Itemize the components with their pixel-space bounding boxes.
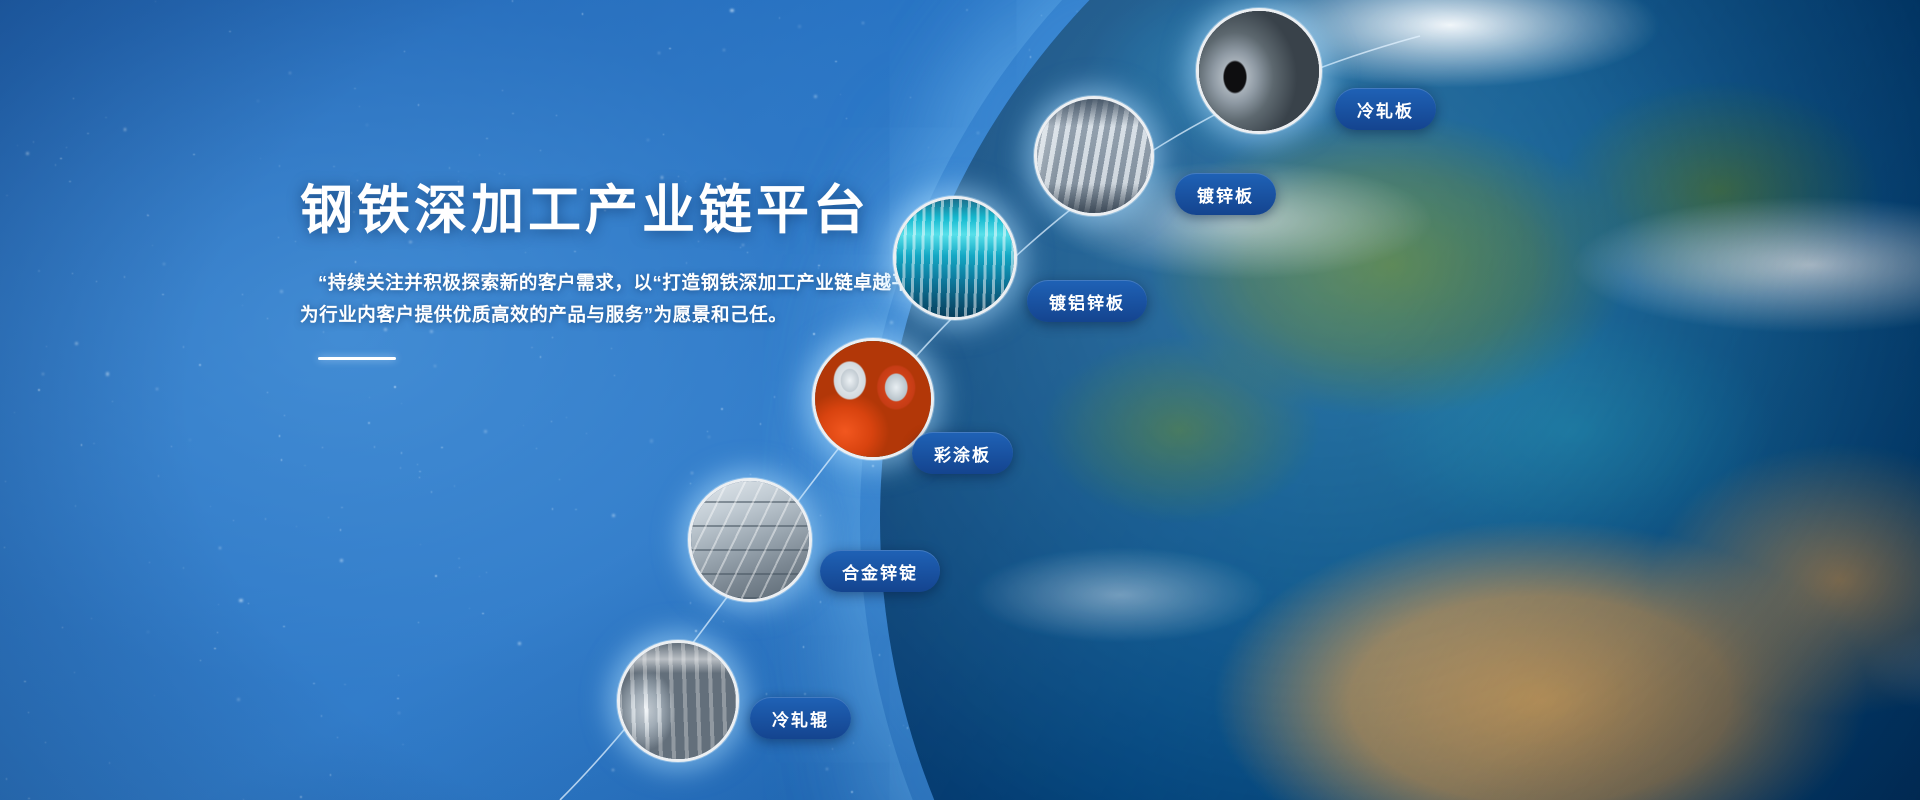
zinc-alloy-ingot-photo bbox=[691, 481, 809, 599]
product-label-pill-4[interactable]: 彩涂板 bbox=[912, 432, 1013, 474]
product-label-pill-1[interactable]: 冷轧板 bbox=[1335, 88, 1436, 130]
product-label-text: 镀铝锌板 bbox=[1049, 289, 1125, 314]
product-thumbnail-6[interactable] bbox=[617, 640, 739, 762]
product-thumbnail-5[interactable] bbox=[688, 478, 812, 602]
hero-banner: 钢铁深加工产业链平台 “持续关注并积极探索新的客户需求，以“打造钢铁深加工产业链… bbox=[0, 0, 1920, 800]
product-label-text: 合金锌锭 bbox=[842, 559, 918, 584]
product-label-text: 冷轧板 bbox=[1357, 97, 1414, 122]
aluzinc-coil-photo bbox=[896, 199, 1014, 317]
galvanized-sheet-photo bbox=[1037, 99, 1151, 213]
product-label-pill-5[interactable]: 合金锌锭 bbox=[820, 550, 940, 592]
cold-rolling-roll-photo bbox=[620, 643, 736, 759]
color-coated-coil-photo bbox=[815, 341, 931, 457]
product-label-pill-2[interactable]: 镀锌板 bbox=[1175, 173, 1276, 215]
product-thumbnail-2[interactable] bbox=[1034, 96, 1154, 216]
product-label-text: 镀锌板 bbox=[1197, 182, 1254, 207]
title-underline-rule bbox=[318, 357, 396, 360]
product-label-text: 冷轧辊 bbox=[772, 706, 829, 731]
steel-coil-photo bbox=[1199, 11, 1319, 131]
product-thumbnail-1[interactable] bbox=[1196, 8, 1322, 134]
product-label-text: 彩涂板 bbox=[934, 441, 991, 466]
product-label-pill-3[interactable]: 镀铝锌板 bbox=[1027, 280, 1147, 322]
product-thumbnail-3[interactable] bbox=[893, 196, 1017, 320]
product-label-pill-6[interactable]: 冷轧辊 bbox=[750, 697, 851, 739]
